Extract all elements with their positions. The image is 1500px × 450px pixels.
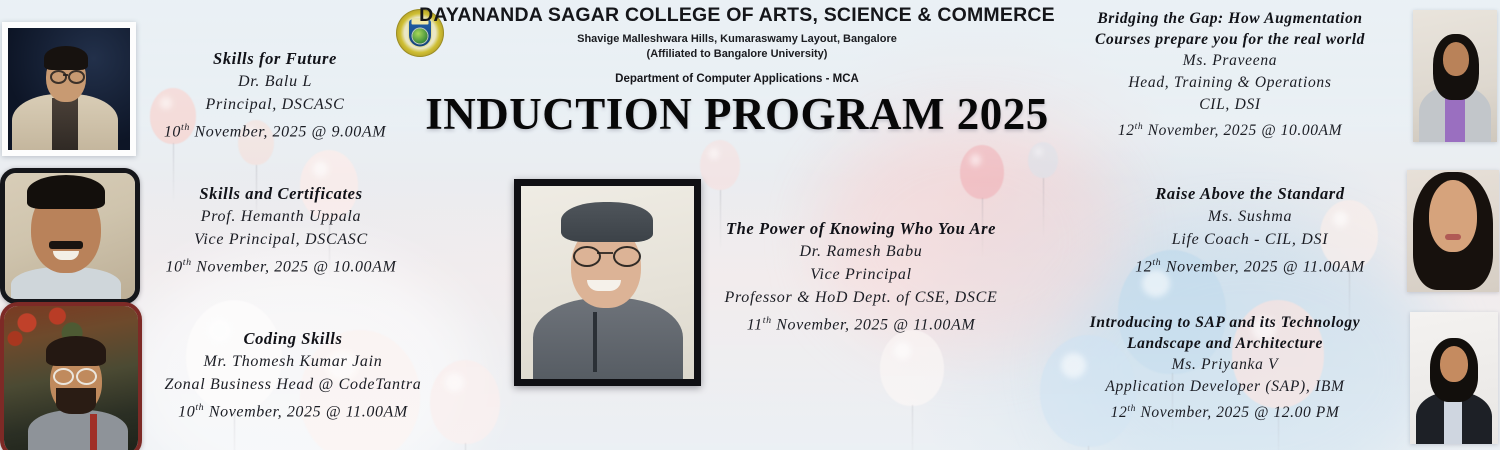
college-address: Shavige Malleshwara Hills, Kumaraswamy L… (392, 33, 1082, 45)
session-title: Bridging the Gap: How Augmentation (1056, 8, 1404, 29)
session-date-rest: November, 2025 @ 10.00AM (1143, 122, 1342, 139)
session-designation: Vice Principal, DSCASC (128, 228, 434, 251)
session-date-rest: November, 2025 @ 12.00 PM (1136, 404, 1339, 421)
photo-thomesh-hair (46, 336, 106, 366)
session-designation-2: CIL, DSI (1056, 94, 1404, 116)
session-speaker: Prof. Hemanth Uppala (128, 205, 434, 228)
session-designation: Head, Training & Operations (1056, 72, 1404, 94)
session-day: 10 (164, 123, 181, 140)
photo-praveena-face (1443, 42, 1469, 76)
photo-balu-l-glasses-right (68, 70, 85, 84)
session-datetime: 11th November, 2025 @ 11.00AM (700, 309, 1022, 336)
session-skills-and-certificates: Skills and Certificates Prof. Hemanth Up… (128, 183, 434, 278)
session-datetime: 10th November, 2025 @ 11.00AM (133, 396, 453, 423)
induction-program-poster: DAYANANDA SAGAR COLLEGE OF ARTS, SCIENCE… (0, 0, 1500, 450)
photo-thomesh-lanyard (90, 414, 97, 450)
photo-balu-l-glasses-left (50, 70, 67, 84)
photo-balu-l-shirt (52, 98, 78, 154)
college-name: DAYANANDA SAGAR COLLEGE OF ARTS, SCIENCE… (392, 4, 1082, 27)
session-power-of-knowing-who-you-are: The Power of Knowing Who You Are Dr. Ram… (700, 218, 1022, 336)
balloon-decor (700, 140, 740, 190)
session-title: Skills and Certificates (128, 183, 434, 205)
photo-ramesh-body (533, 298, 683, 386)
session-date-rest: November, 2025 @ 10.00AM (192, 258, 397, 275)
session-datetime: 12th November, 2025 @ 12.00 PM (1046, 398, 1404, 424)
session-designation: Principal, DSCASC (130, 93, 420, 116)
photo-priyanka-v (1410, 312, 1498, 444)
photo-ramesh-glasses-right (613, 246, 641, 267)
photo-sushma (1407, 170, 1499, 292)
photo-balu-l-hair (44, 46, 88, 70)
session-day-suffix: th (181, 122, 190, 133)
session-speaker: Ms. Priyanka V (1046, 354, 1404, 376)
session-designation: Zonal Business Head @ CodeTantra (133, 373, 453, 396)
session-day: 12 (1111, 404, 1128, 421)
session-speaker: Ms. Praveena (1056, 50, 1404, 72)
photo-hemanth-moustache (49, 241, 83, 249)
session-datetime: 10th November, 2025 @ 10.00AM (128, 251, 434, 278)
photo-sushma-lips (1445, 234, 1461, 240)
session-datetime: 10th November, 2025 @ 9.00AM (130, 116, 420, 143)
session-title: Skills for Future (130, 48, 420, 70)
photo-balu-l-glasses-bridge (63, 74, 68, 76)
session-designation: Application Developer (SAP), IBM (1046, 376, 1404, 398)
session-title: Coding Skills (133, 328, 453, 350)
balloon-decor (1028, 142, 1058, 178)
session-designation: Vice Principal (700, 263, 1022, 286)
session-speaker: Ms. Sushma (1100, 205, 1400, 228)
photo-thomesh-glasses-right (76, 368, 97, 385)
photo-thomesh-body (28, 410, 128, 450)
session-designation: Life Coach - CIL, DSI (1100, 228, 1400, 251)
page-title: INDUCTION PROGRAM 2025 (392, 92, 1082, 137)
session-day: 11 (747, 316, 763, 333)
session-day-suffix: th (1127, 403, 1136, 414)
photo-thomesh-glasses-left (53, 368, 74, 385)
poster-header: DAYANANDA SAGAR COLLEGE OF ARTS, SCIENCE… (392, 4, 1082, 137)
balloon-decor (880, 330, 944, 406)
session-day-suffix: th (195, 402, 204, 413)
session-speaker: Mr. Thomesh Kumar Jain (133, 350, 453, 373)
session-day: 10 (178, 403, 195, 420)
photo-ramesh-lanyard (593, 312, 597, 372)
session-date-rest: November, 2025 @ 11.00AM (1161, 258, 1365, 275)
session-speaker: Dr. Ramesh Babu (700, 240, 1022, 263)
session-day: 10 (166, 258, 183, 275)
session-day: 12 (1118, 122, 1135, 139)
session-day-suffix: th (1152, 257, 1161, 268)
session-date-rest: November, 2025 @ 11.00AM (772, 316, 976, 333)
session-raise-above-the-standard: Raise Above the Standard Ms. Sushma Life… (1100, 183, 1400, 278)
photo-thomesh-jain (0, 302, 142, 450)
session-coding-skills: Coding Skills Mr. Thomesh Kumar Jain Zon… (133, 328, 453, 423)
session-day-suffix: th (1135, 121, 1144, 132)
photo-ramesh-glasses-left (573, 246, 601, 267)
photo-hemanth-uppala (0, 168, 140, 304)
session-skills-for-future: Skills for Future Dr. Balu L Principal, … (130, 48, 420, 143)
session-speaker: Dr. Balu L (130, 70, 420, 93)
session-date-rest: November, 2025 @ 11.00AM (204, 403, 408, 420)
photo-hemanth-hair (27, 175, 105, 209)
session-day-suffix: th (763, 315, 772, 326)
college-affiliation: (Affiliated to Bangalore University) (392, 48, 1082, 60)
session-title-line2: Courses prepare you for the real world (1056, 29, 1404, 50)
photo-priyanka-face (1440, 346, 1468, 382)
photo-thomesh-beard (56, 388, 96, 414)
photo-praveena (1413, 10, 1497, 142)
photo-balu-l (2, 22, 136, 156)
balloon-decor (960, 145, 1004, 199)
session-title: Raise Above the Standard (1100, 183, 1400, 205)
session-day: 12 (1135, 258, 1152, 275)
session-title: The Power of Knowing Who You Are (700, 218, 1022, 240)
photo-ramesh-flat-cap (561, 202, 653, 242)
session-bridging-the-gap: Bridging the Gap: How Augmentation Cours… (1056, 8, 1404, 142)
session-title: Introducing to SAP and its Technology (1046, 312, 1404, 333)
session-datetime: 12th November, 2025 @ 10.00AM (1056, 116, 1404, 142)
session-date-rest: November, 2025 @ 9.00AM (190, 123, 386, 140)
session-title-line2: Landscape and Architecture (1046, 333, 1404, 354)
session-datetime: 12th November, 2025 @ 11.00AM (1100, 251, 1400, 278)
session-designation-2: Professor & HoD Dept. of CSE, DSCE (700, 286, 1022, 309)
session-introducing-to-sap: Introducing to SAP and its Technology La… (1046, 312, 1404, 424)
photo-ramesh-glasses-bridge (597, 252, 613, 254)
photo-sushma-face (1429, 180, 1477, 252)
photo-ramesh-babu (514, 179, 701, 386)
department-name: Department of Computer Applications - MC… (392, 73, 1082, 85)
session-day-suffix: th (183, 257, 192, 268)
